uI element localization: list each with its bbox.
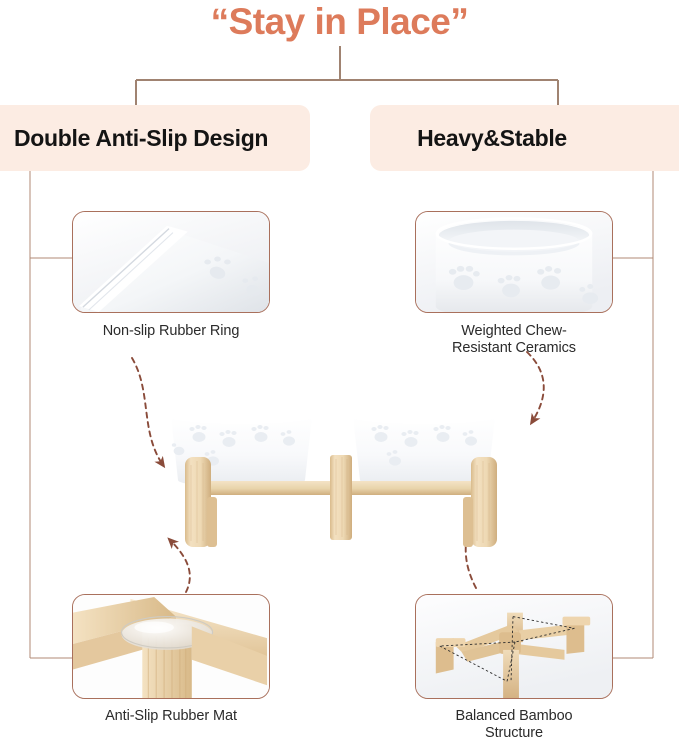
feature-card-weighted-chew-resistant-ceramics[interactable]	[415, 211, 613, 313]
feature-caption-weighted-chew-resistant-ceramics: Weighted Chew- Resistant Ceramics	[395, 323, 633, 357]
feature-caption-balanced-bamboo-structure: Balanced Bamboo Structure	[395, 708, 633, 742]
caption-line-2: Resistant Ceramics	[452, 340, 576, 356]
arrow-to-bowl-body	[527, 352, 544, 422]
photo-bamboo-structure	[416, 595, 612, 698]
feature-caption-anti-slip-rubber-mat: Anti-Slip Rubber Mat	[52, 708, 290, 725]
branch-header-label: Double Anti-Slip Design	[0, 125, 310, 152]
photo-bowl-rim	[73, 212, 269, 312]
feature-card-non-slip-rubber-ring[interactable]	[72, 211, 270, 313]
caption-line-1: Weighted Chew-	[461, 323, 567, 339]
caption-line-1: Balanced Bamboo	[456, 708, 573, 724]
feature-card-anti-slip-rubber-mat[interactable]	[72, 594, 270, 699]
photo-rubber-mat	[73, 595, 269, 698]
feature-caption-non-slip-rubber-ring: Non-slip Rubber Ring	[52, 323, 290, 340]
page-title: “Stay in Place”	[0, 0, 679, 44]
branch-header-label: Heavy&Stable	[370, 125, 679, 152]
branch-header-double-anti-slip-design[interactable]: Double Anti-Slip Design	[0, 105, 310, 171]
photo-ceramic-bowl	[416, 212, 612, 312]
hero-product-image	[155, 385, 527, 560]
feature-card-balanced-bamboo-structure[interactable]	[415, 594, 613, 699]
branch-header-heavy-stable[interactable]: Heavy&Stable	[370, 105, 679, 171]
stand-center-post	[330, 455, 352, 540]
caption-line-2: Structure	[485, 725, 543, 741]
infographic-stage: “Stay in Place”	[0, 0, 679, 743]
